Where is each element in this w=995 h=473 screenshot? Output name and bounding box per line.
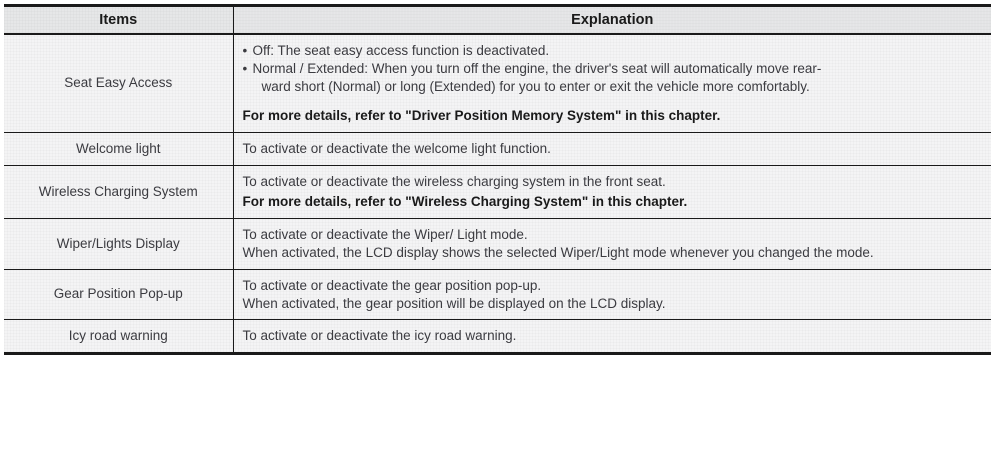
list-item: • Normal / Extended: When you turn off t… <box>243 60 985 96</box>
column-header-explanation: Explanation <box>233 7 991 34</box>
table-row: Wireless Charging System To activate or … <box>4 165 991 218</box>
column-header-items: Items <box>4 7 233 34</box>
bullet-text-continuation: ward short (Normal) or long (Extended) f… <box>253 78 985 96</box>
explanation-cell: To activate or deactivate the Wiper/ Lig… <box>233 218 991 269</box>
explanation-line: When activated, the gear position will b… <box>243 295 985 313</box>
bullet-point-icon: • <box>243 42 253 60</box>
bullet-text: Off: The seat easy access function is de… <box>253 42 985 60</box>
list-item: • Off: The seat easy access function is … <box>243 42 985 60</box>
reference-note: For more details, refer to "Driver Posit… <box>243 107 985 125</box>
item-name-cell: Gear Position Pop-up <box>4 269 233 320</box>
explanation-line: To activate or deactivate the Wiper/ Lig… <box>243 226 985 244</box>
item-name-cell: Icy road warning <box>4 320 233 352</box>
table-row: Welcome light To activate or deactivate … <box>4 132 991 165</box>
explanation-line: To activate or deactivate the welcome li… <box>243 140 985 158</box>
table-header: Items Explanation <box>4 7 991 34</box>
explanation-cell: To activate or deactivate the gear posit… <box>233 269 991 320</box>
table-header-row: Items Explanation <box>4 7 991 34</box>
explanation-line: To activate or deactivate the gear posit… <box>243 277 985 295</box>
bullet-text-first-line: Normal / Extended: When you turn off the… <box>253 61 822 76</box>
item-name-cell: Seat Easy Access <box>4 34 233 132</box>
explanation-line: To activate or deactivate the wireless c… <box>243 173 985 191</box>
settings-table-container: Items Explanation Seat Easy Access • Off… <box>4 4 991 355</box>
table-row: Wiper/Lights Display To activate or deac… <box>4 218 991 269</box>
vehicle-settings-table: Items Explanation Seat Easy Access • Off… <box>4 7 991 352</box>
explanation-cell: To activate or deactivate the welcome li… <box>233 132 991 165</box>
table-row: Icy road warning To activate or deactiva… <box>4 320 991 352</box>
bullet-text: Normal / Extended: When you turn off the… <box>253 60 985 96</box>
explanation-cell: • Off: The seat easy access function is … <box>233 34 991 132</box>
table-row: Gear Position Pop-up To activate or deac… <box>4 269 991 320</box>
item-name-cell: Welcome light <box>4 132 233 165</box>
table-body: Seat Easy Access • Off: The seat easy ac… <box>4 34 991 352</box>
bullet-list: • Off: The seat easy access function is … <box>243 42 985 96</box>
item-name-cell: Wiper/Lights Display <box>4 218 233 269</box>
item-name-cell: Wireless Charging System <box>4 165 233 218</box>
explanation-cell: To activate or deactivate the wireless c… <box>233 165 991 218</box>
table-row: Seat Easy Access • Off: The seat easy ac… <box>4 34 991 132</box>
explanation-line: When activated, the LCD display shows th… <box>243 244 985 262</box>
explanation-line: To activate or deactivate the icy road w… <box>243 327 985 345</box>
bullet-point-icon: • <box>243 60 253 78</box>
reference-note: For more details, refer to "Wireless Cha… <box>243 193 985 211</box>
explanation-cell: To activate or deactivate the icy road w… <box>233 320 991 352</box>
